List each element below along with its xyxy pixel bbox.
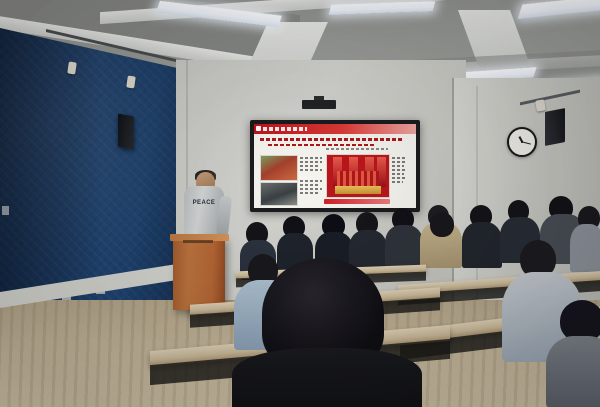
lectern-slot [183,240,213,243]
slide-footer-bar [324,199,390,204]
slide-caption [326,148,388,150]
presentation-slide [254,124,416,208]
slide-header-icon [256,126,261,131]
wall-outlet-4 [2,206,9,215]
track-light [535,99,546,111]
wall-speaker-right [545,108,565,146]
track-light [126,76,136,89]
slide-header-text [263,127,307,131]
presenter-hoodie-text: PEACE [192,200,216,207]
light-panel-3 [518,0,600,19]
slide-photo-3 [326,154,390,198]
projection-screen[interactable] [250,120,420,212]
slide-photo-1 [260,155,298,181]
slide-photo-2 [260,182,298,206]
attendee-grey-jacket [430,212,454,237]
wall-clock [507,127,537,157]
wooden-lectern [173,238,225,310]
ceiling-projector [302,100,336,109]
track-light [67,62,77,75]
slide-header-banner [254,124,416,134]
wall-speaker-left [118,114,134,150]
classroom-photo: PEACE [0,0,600,407]
